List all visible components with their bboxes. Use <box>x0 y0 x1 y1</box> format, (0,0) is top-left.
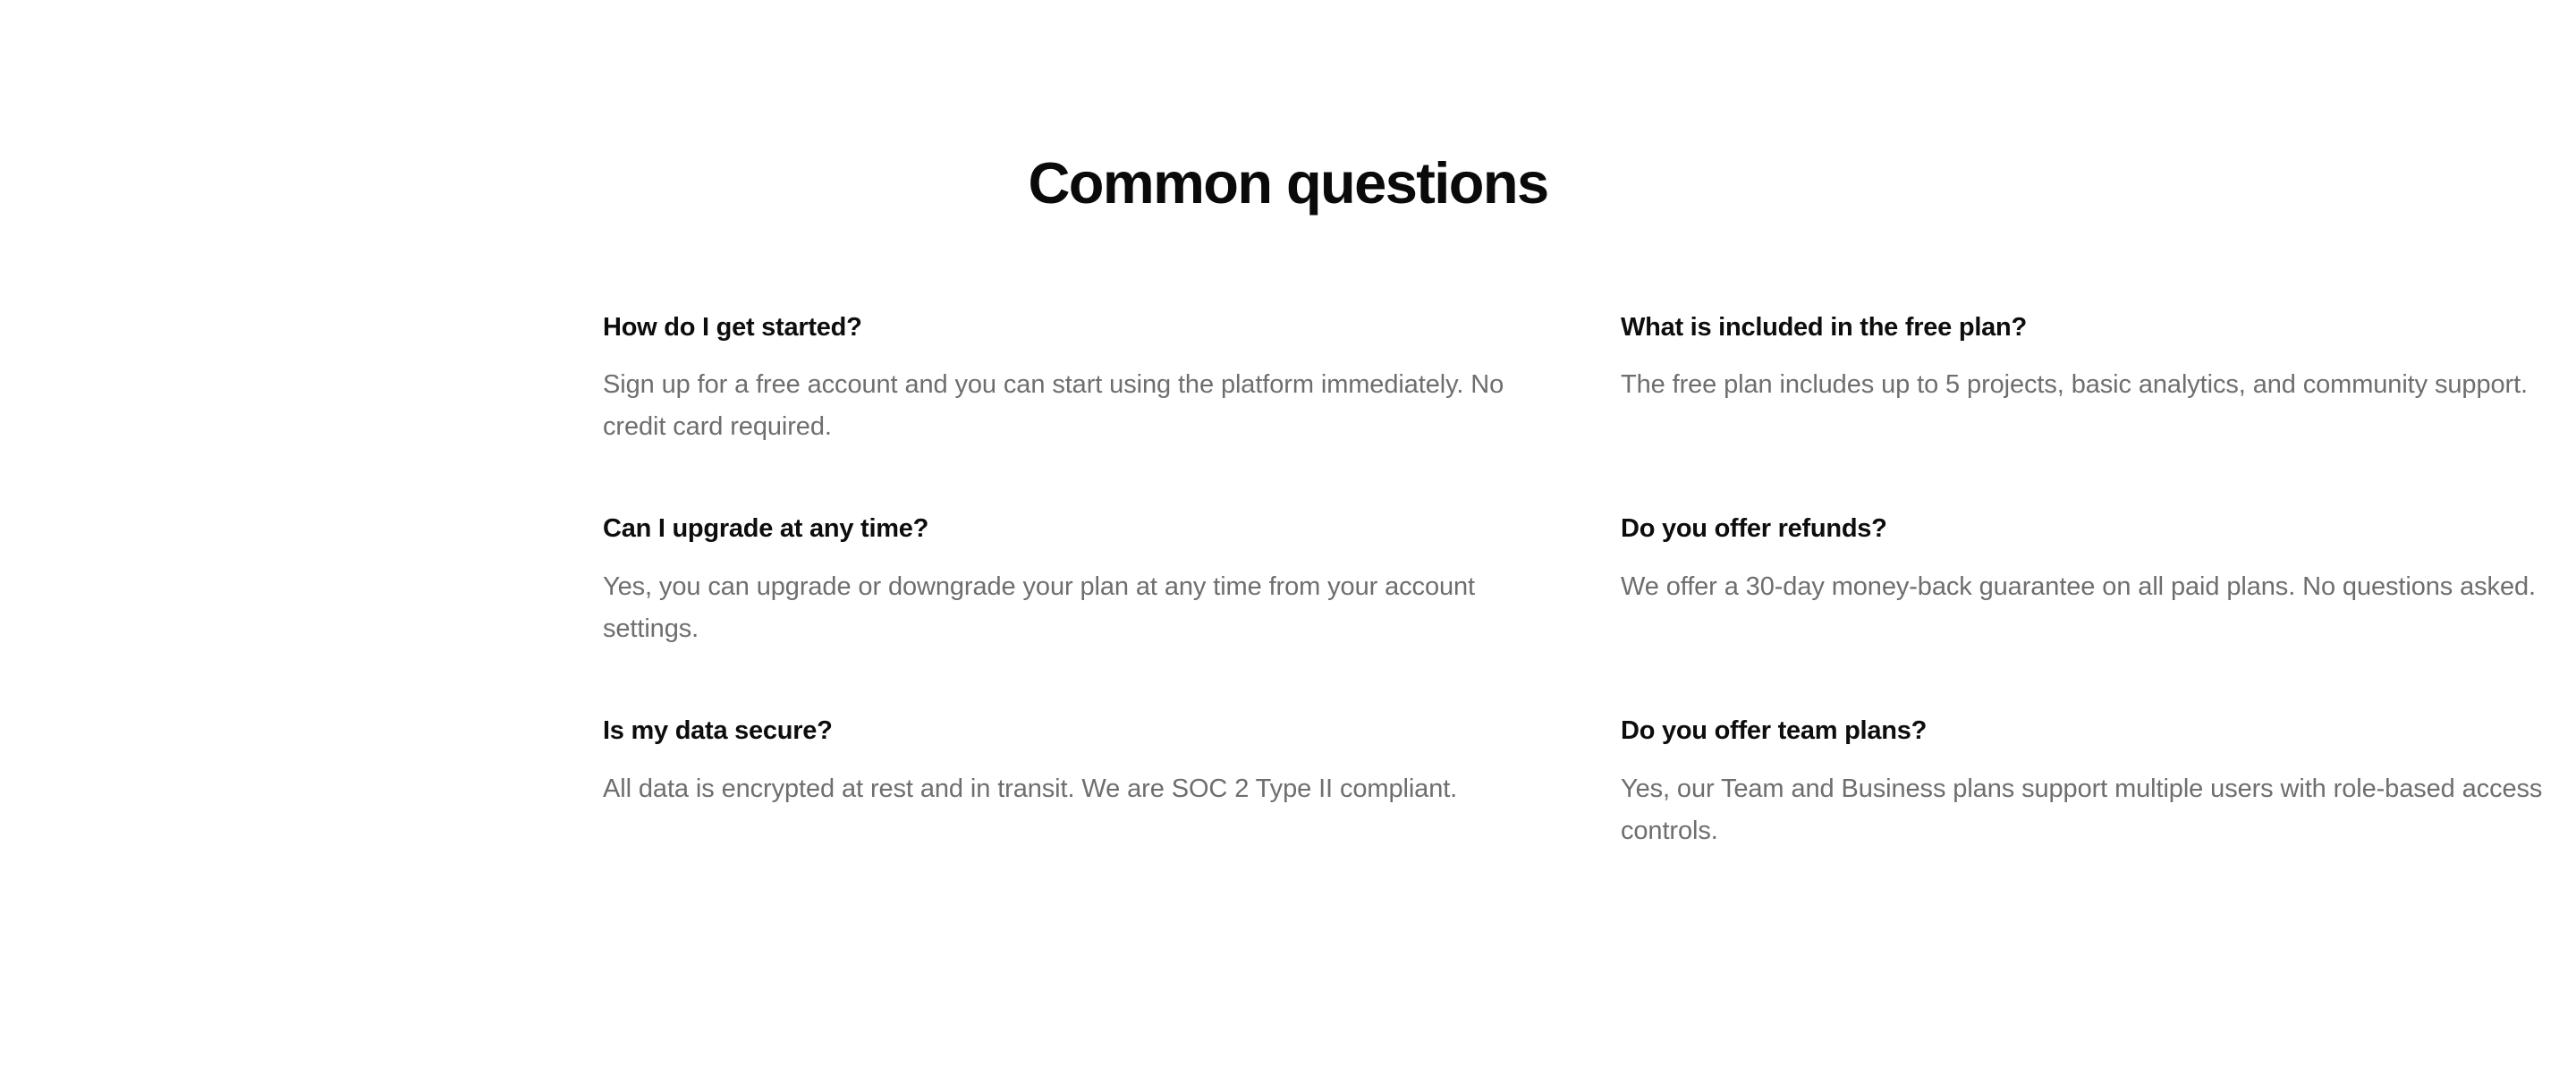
faq-question: Do you offer team plans? <box>1621 715 2549 749</box>
faq-item-0[interactable]: How do I get started? Sign up for a free… <box>603 311 1531 449</box>
faq-answer: The free plan includes up to 5 projects,… <box>1621 364 2549 406</box>
faq-question: Can I upgrade at any time? <box>603 512 1531 546</box>
faq-answer: Sign up for a free account and you can s… <box>603 364 1531 448</box>
faq-question: How do I get started? <box>603 311 1531 345</box>
faq-answer: Yes, our Team and Business plans support… <box>1621 768 2549 852</box>
faq-section: Common questions How do I get started? S… <box>0 0 2576 1075</box>
faq-question: Do you offer refunds? <box>1621 512 2549 546</box>
faq-question: What is included in the free plan? <box>1621 311 2549 345</box>
faq-item-4[interactable]: Is my data secure? All data is encrypted… <box>603 715 1531 852</box>
faq-item-3[interactable]: Do you offer refunds? We offer a 30-day … <box>1621 512 2549 650</box>
page-title: Common questions <box>0 0 2576 217</box>
faq-question: Is my data secure? <box>603 715 1531 749</box>
faq-answer: All data is encrypted at rest and in tra… <box>603 768 1531 810</box>
faq-answer: We offer a 30-day money-back guarantee o… <box>1621 566 2549 608</box>
faq-item-2[interactable]: Can I upgrade at any time? Yes, you can … <box>603 512 1531 650</box>
faq-answer: Yes, you can upgrade or downgrade your p… <box>603 566 1531 650</box>
faq-item-5[interactable]: Do you offer team plans? Yes, our Team a… <box>1621 715 2549 852</box>
faq-grid: How do I get started? Sign up for a free… <box>301 217 2275 917</box>
faq-item-1[interactable]: What is included in the free plan? The f… <box>1621 311 2549 449</box>
